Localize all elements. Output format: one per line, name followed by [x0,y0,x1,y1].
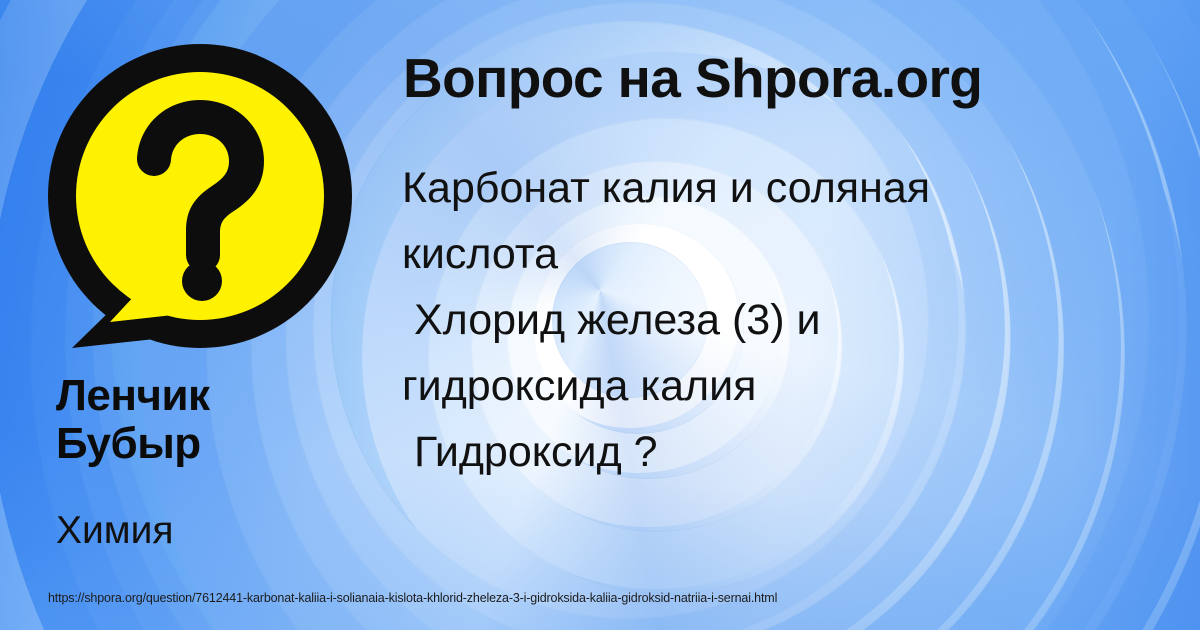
question-line: Хлорид железа (3) и [402,287,1102,353]
card-content: Ленчик Бубыр Химия Вопрос на Shpora.org … [0,0,1200,630]
question-line: Гидроксид ? [402,419,1102,485]
question-line: кислота [402,221,1102,287]
page-title: Вопрос на Shpora.org [403,50,1163,108]
source-url[interactable]: https://shpora.org/question/7612441-karb… [48,591,777,605]
question-line: Карбонат калия и соляная [402,155,1102,221]
question-text: Карбонат калия и соляная кислота Хлорид … [402,155,1102,485]
question-speech-bubble-icon [44,38,356,360]
question-line: гидроксида калия [402,353,1102,419]
subject-category: Химия [56,510,356,553]
question-share-card: Ленчик Бубыр Химия Вопрос на Shpora.org … [0,0,1200,630]
author-name: Ленчик Бубыр [56,372,356,467]
